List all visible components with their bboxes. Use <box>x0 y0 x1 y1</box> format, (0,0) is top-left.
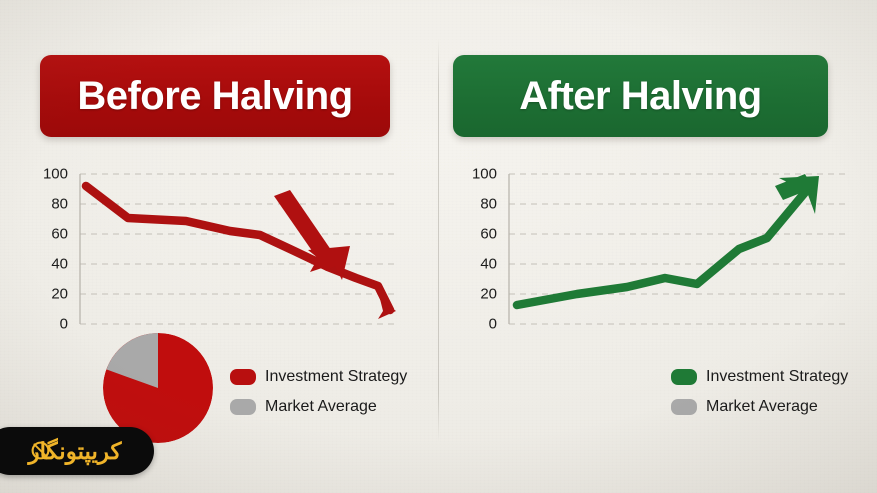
left-y-axis-labels: 100 80 60 40 20 0 <box>28 168 68 330</box>
y-tick-20: 20 <box>480 287 497 302</box>
y-tick-100: 100 <box>472 167 497 182</box>
before-halving-legend: Investment Strategy Market Average <box>230 368 407 428</box>
infographic-canvas: Before Halving 100 80 60 40 20 0 <box>0 0 877 493</box>
right-plot-area <box>507 168 847 330</box>
red-swatch-icon <box>230 369 256 385</box>
after-halving-title: After Halving <box>519 74 761 119</box>
right-series-line <box>517 190 807 305</box>
legend-label-investment-strategy: Investment Strategy <box>706 368 848 386</box>
left-plot-area <box>78 168 398 330</box>
y-tick-40: 40 <box>480 257 497 272</box>
after-halving-badge: After Halving <box>453 55 828 137</box>
legend-item-investment-strategy: Investment Strategy <box>671 368 848 386</box>
legend-label-investment-strategy: Investment Strategy <box>265 368 407 386</box>
y-tick-40: 40 <box>51 257 68 272</box>
y-tick-100: 100 <box>43 167 68 182</box>
y-tick-60: 60 <box>480 227 497 242</box>
gold-coin-icon <box>30 440 51 461</box>
legend-label-market-average: Market Average <box>706 398 818 416</box>
y-tick-80: 80 <box>480 197 497 212</box>
legend-item-investment-strategy: Investment Strategy <box>230 368 407 386</box>
legend-item-market-average: Market Average <box>671 398 848 416</box>
panel-after-halving: After Halving 100 80 60 40 20 0 <box>439 0 877 493</box>
after-halving-line-chart: 100 80 60 40 20 0 <box>439 168 877 330</box>
gray-swatch-icon <box>671 399 697 415</box>
legend-label-market-average: Market Average <box>265 398 377 416</box>
right-y-axis-labels: 100 80 60 40 20 0 <box>457 168 497 330</box>
green-swatch-icon <box>671 369 697 385</box>
y-tick-80: 80 <box>51 197 68 212</box>
after-halving-legend: Investment Strategy Market Average <box>671 368 848 428</box>
before-halving-title: Before Halving <box>77 74 352 119</box>
legend-item-market-average: Market Average <box>230 398 407 416</box>
gray-swatch-icon <box>230 399 256 415</box>
y-tick-0: 0 <box>60 317 68 332</box>
before-halving-badge: Before Halving <box>40 55 390 137</box>
y-tick-0: 0 <box>489 317 497 332</box>
watermark-badge: کریپتونگار <box>0 427 154 475</box>
y-tick-60: 60 <box>51 227 68 242</box>
before-halving-line-chart: 100 80 60 40 20 0 <box>0 168 438 330</box>
y-tick-20: 20 <box>51 287 68 302</box>
panel-before-halving: Before Halving 100 80 60 40 20 0 <box>0 0 438 493</box>
